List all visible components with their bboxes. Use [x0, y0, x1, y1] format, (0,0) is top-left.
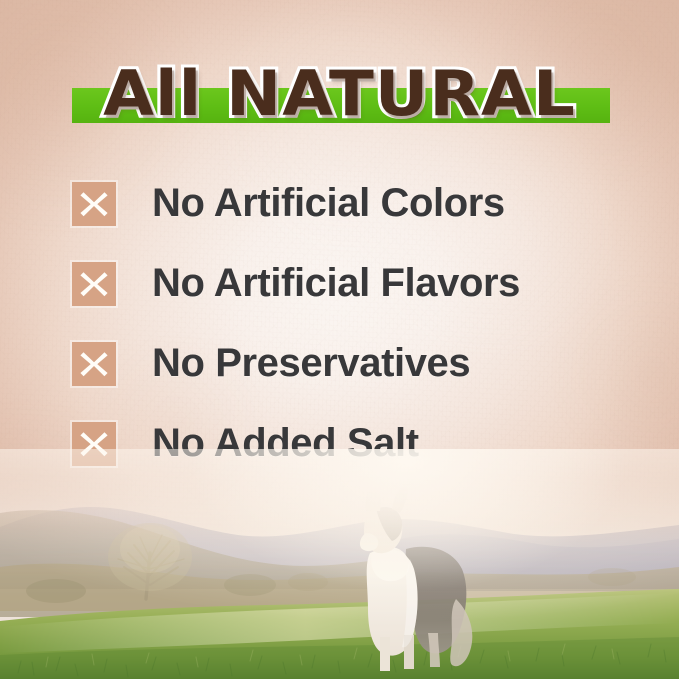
list-item: No Artificial Flavors — [72, 261, 632, 341]
hero-photo — [0, 449, 679, 679]
x-mark-icon — [72, 182, 116, 226]
header-banner: All NATURAL — [0, 52, 679, 136]
list-item-label: No Artificial Colors — [152, 178, 505, 228]
list-item-label: No Preservatives — [152, 338, 470, 388]
list-item-label: No Artificial Flavors — [152, 258, 520, 308]
all-natural-feature-panel: All NATURAL No Artificial Colors No Arti… — [0, 0, 679, 679]
list-item: No Artificial Colors — [72, 181, 632, 261]
x-mark-icon — [72, 262, 116, 306]
page-title: All NATURAL — [0, 52, 679, 136]
x-mark-icon — [72, 342, 116, 386]
list-item: No Preservatives — [72, 341, 632, 421]
